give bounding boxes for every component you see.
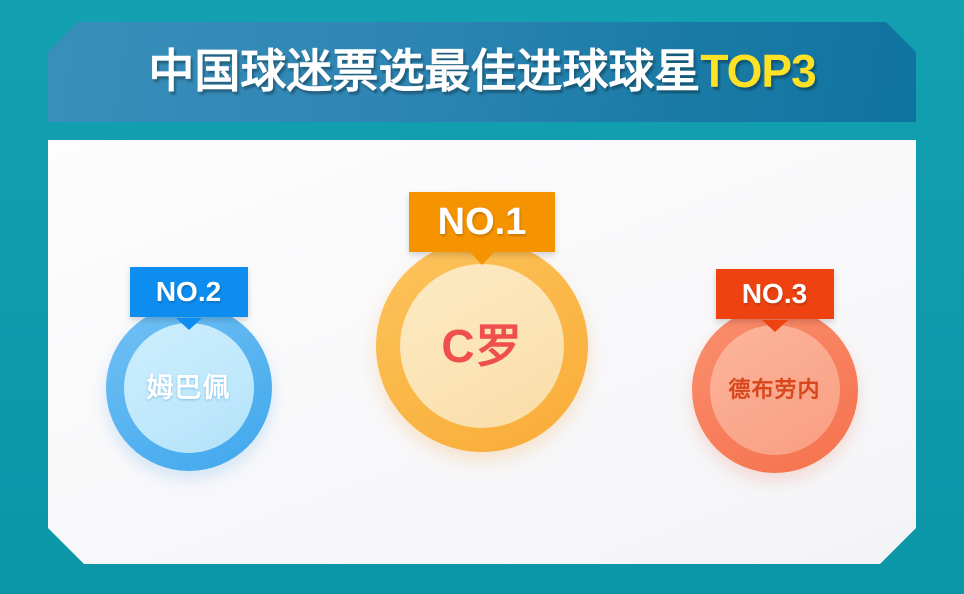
medal-inner-3: 德布劳内 bbox=[710, 325, 840, 455]
player-name-1: C罗 bbox=[441, 323, 522, 369]
page-title-top3: TOP3 bbox=[700, 45, 815, 97]
rank-badge-2-label: NO.2 bbox=[156, 278, 221, 306]
header-banner: 中国球迷票选最佳进球球星TOP3 bbox=[48, 22, 916, 122]
ranking-item-2[interactable]: NO.2 姆巴佩 bbox=[86, 267, 291, 471]
rank-badge-2: NO.2 bbox=[130, 267, 248, 317]
rank-badge-3: NO.3 bbox=[716, 269, 834, 319]
ranking-item-3[interactable]: NO.3 德布劳内 bbox=[672, 269, 877, 473]
rank-badge-1-label: NO.1 bbox=[438, 203, 527, 241]
rank-badge-3-label: NO.3 bbox=[742, 280, 807, 308]
infographic-poster: 中国球迷票选最佳进球球星TOP3 NO.1 C罗 NO.2 姆巴佩 NO.3 bbox=[0, 0, 964, 594]
ranking-item-1[interactable]: NO.1 C罗 bbox=[352, 192, 612, 452]
player-name-2: 姆巴佩 bbox=[147, 375, 231, 402]
medal-inner-1: C罗 bbox=[400, 264, 564, 428]
page-title-chinese: 中国球迷票选最佳进球球星 bbox=[148, 45, 700, 97]
page-title: 中国球迷票选最佳进球球星TOP3 bbox=[148, 48, 815, 96]
medal-inner-2: 姆巴佩 bbox=[124, 323, 254, 453]
medal-circle-1: C罗 bbox=[376, 240, 588, 452]
rank-badge-1: NO.1 bbox=[409, 192, 555, 252]
player-name-3: 德布劳内 bbox=[728, 379, 820, 401]
